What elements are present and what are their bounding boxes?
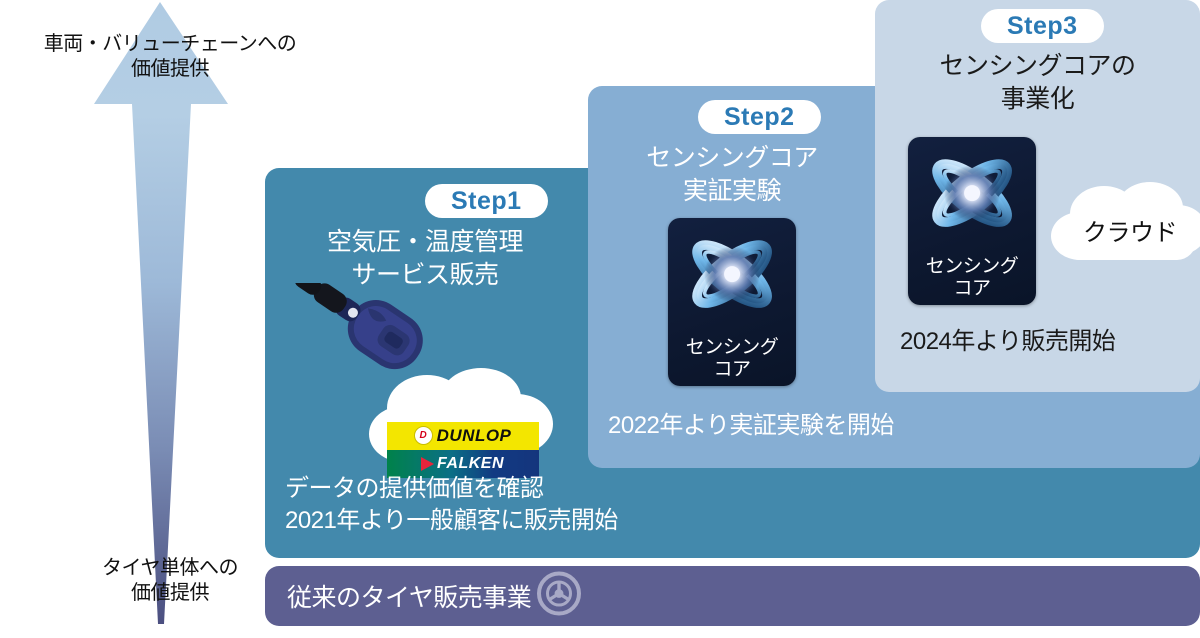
brand-logos: D DUNLOP FALKEN [387, 422, 539, 478]
axis-top-label: 車両・バリューチェーンへの 価値提供 [40, 32, 300, 82]
axis-bottom-label-line2: 価値提供 [40, 581, 300, 606]
axis-bottom-label: タイヤ単体への 価値提供 [40, 556, 300, 606]
sensing-core-label-line1: センシング [668, 337, 796, 358]
step3-title-line2: 事業化 [875, 83, 1200, 116]
sensing-core-label-line2: コア [668, 359, 796, 380]
legacy-business-bar[interactable]: 従来のタイヤ販売事業 [265, 566, 1200, 626]
sensing-core-icon: センシング コア [908, 137, 1036, 305]
legacy-business-label: 従来のタイヤ販売事業 [287, 578, 531, 614]
step3-caption-line1: 2024年より販売開始 [900, 326, 1115, 358]
step3-title: センシングコアの 事業化 [875, 50, 1200, 115]
axis-top-label-line2: 価値提供 [40, 57, 300, 82]
dunlop-mark-icon: D [414, 426, 433, 445]
step1-caption-line1: データの提供価値を確認 [285, 473, 618, 505]
sensing-core-label-line1: センシング [908, 256, 1036, 277]
sensing-core-label-line2: コア [908, 278, 1036, 299]
up-arrow-icon [60, 0, 260, 638]
tyre-wheel-icon [537, 572, 581, 621]
step3-panel[interactable]: Step3 センシングコアの 事業化 [875, 0, 1200, 392]
sensing-core-icon: センシング コア [668, 218, 796, 386]
axis-bottom-label-line1: タイヤ単体への [40, 556, 300, 581]
axis-top-label-line1: 車両・バリューチェーンへの [40, 32, 300, 57]
sensing-core-label: センシング コア [908, 256, 1036, 299]
step3-badge: Step3 [981, 9, 1104, 43]
step1-badge: Step1 [425, 184, 548, 218]
step2-title-line1: センシングコア [588, 142, 876, 175]
value-axis-arrow: 車両・バリューチェーンへの 価値提供 タイヤ単体への 価値提供 [60, 0, 260, 638]
step2-badge: Step2 [698, 100, 821, 134]
step3-title-line1: センシングコアの [875, 50, 1200, 83]
falken-mark-icon [421, 457, 434, 471]
step1-caption: データの提供価値を確認 2021年より一般顧客に販売開始 [285, 473, 618, 536]
step1-title-line1: 空気圧・温度管理 [265, 226, 585, 259]
cloud-label: クラウド [1050, 213, 1200, 248]
step2-title: センシングコア 実証実験 [588, 142, 876, 207]
sensing-core-label: センシング コア [668, 337, 796, 380]
step3-caption: 2024年より販売開始 [900, 326, 1115, 358]
step1-title: 空気圧・温度管理 サービス販売 [265, 226, 585, 291]
dunlop-logo: D DUNLOP [387, 422, 539, 450]
falken-logo-text: FALKEN [437, 455, 504, 473]
step2-caption: 2022年より実証実験を開始 [608, 410, 894, 442]
step2-title-line2: 実証実験 [588, 175, 876, 208]
step2-caption-line1: 2022年より実証実験を開始 [608, 410, 894, 442]
cloud-icon: クラウド [1050, 180, 1200, 280]
cloud-icon: D DUNLOP FALKEN [365, 368, 560, 483]
step1-caption-line2: 2021年より一般顧客に販売開始 [285, 505, 618, 537]
dunlop-logo-text: DUNLOP [437, 426, 512, 446]
